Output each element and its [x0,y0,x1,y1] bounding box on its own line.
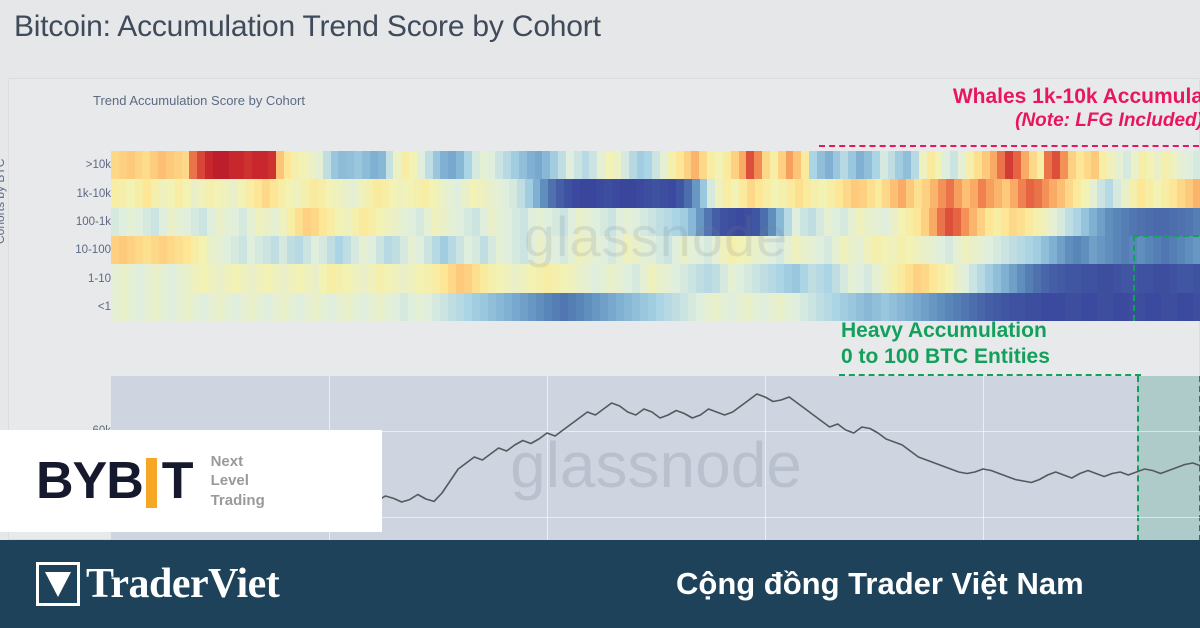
bybit-wordmark-part1: BYB [36,455,143,507]
heatmap-row [111,236,1200,264]
heatmap-yaxis-title: Cohorts by BTC [0,159,7,244]
heatmap-ylabel: <1 [98,301,111,313]
accumulation-heatmap[interactable]: glassnode [111,151,1200,321]
heatmap-row [111,208,1200,236]
heavy-accumulation-annotation: Heavy Accumulation 0 to 100 BTC Entities [841,319,1050,369]
heatmap-ylabel: 100-1k [76,216,111,228]
bybit-sponsor-card: BYB T Next Level Trading [0,430,382,532]
green-highlight-box [1133,235,1200,321]
bybit-wordmark-part2: T [162,455,193,507]
footer-bar: TraderViet Cộng đồng Trader Việt Nam [0,540,1200,628]
bybit-accent-bar-icon [146,458,157,508]
heatmap-row [111,293,1200,321]
green-annotation-line2: 0 to 100 BTC Entities [841,345,1050,369]
heatmap-subtitle: Trend Accumulation Score by Cohort [93,93,305,108]
bybit-tagline-line1: Next [211,452,265,471]
traderviet-wordmark: TraderViet [86,563,279,605]
heatmap-ylabel: 1-10 [88,273,111,285]
bybit-tagline-line3: Trading [211,491,265,510]
heatmap-ylabel: 1k-10k [76,188,111,200]
footer-tagline: Cộng đồng Trader Việt Nam [676,566,1084,602]
whale-annotation-line2: (Note: LFG Included) [953,110,1200,132]
traderviet-v-mark-icon [36,562,80,606]
heatmap-ylabel: >10k [86,159,111,171]
green-annotation-line1: Heavy Accumulation [841,319,1050,343]
heatmap-row [111,151,1200,179]
page-title: Bitcoin: Accumulation Trend Score by Coh… [14,10,601,44]
heatmap-row [111,264,1200,292]
traderviet-logo[interactable]: TraderViet [36,562,279,606]
whale-accumulation-annotation: Whales 1k-10k Accumula (Note: LFG Includ… [953,85,1200,132]
whale-annotation-dashed-line [819,145,1199,147]
heatmap-ylabel: 10-100 [75,244,111,256]
bybit-logo: BYB T [36,455,193,507]
heatmap-row [111,179,1200,207]
bybit-tagline-line2: Level [211,471,265,490]
bybit-tagline: Next Level Trading [211,452,265,510]
heatmap-yaxis-labels: >10k1k-10k100-1k10-1001-10<1 [53,151,111,321]
whale-annotation-line1: Whales 1k-10k Accumula [953,85,1200,109]
